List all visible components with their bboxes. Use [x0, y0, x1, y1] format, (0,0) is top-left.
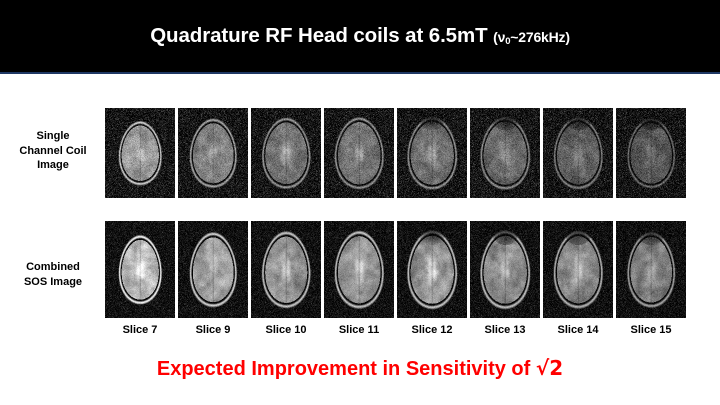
- mri-slice-tile: [543, 108, 613, 198]
- mri-slice-tile: [470, 108, 540, 198]
- mri-slice-image: [397, 108, 467, 198]
- mri-slice-image: [251, 221, 321, 318]
- mri-slice-tile: [470, 221, 540, 318]
- row-label-line: SOS Image: [4, 275, 102, 290]
- slice-caption: Slice 7: [105, 325, 175, 336]
- row-label-single-channel: Single Channel Coil Image: [4, 129, 102, 173]
- mri-slice-tile: [543, 221, 613, 318]
- row-label-line: Combined: [4, 260, 102, 275]
- mri-slice-image: [543, 108, 613, 198]
- mri-slice-image: [397, 221, 467, 318]
- slice-caption: Slice 10: [251, 325, 321, 336]
- sqrt-two-symbol: √2: [536, 356, 563, 380]
- mri-slice-tile: [324, 108, 394, 198]
- mri-slice-tile: [324, 221, 394, 318]
- slide-header-band: Quadrature RF Head coils at 6.5mT (ν0~27…: [0, 0, 720, 74]
- mri-slice-image: [470, 221, 540, 318]
- slice-caption: Slice 15: [616, 325, 686, 336]
- title-frequency-note: (ν0~276kHz): [493, 29, 570, 45]
- mri-slice-image: [178, 108, 248, 198]
- mri-slice-image: [616, 221, 686, 318]
- slice-caption: Slice 13: [470, 325, 540, 336]
- mri-slice-image: [178, 221, 248, 318]
- row-label-combined-sos: Combined SOS Image: [4, 260, 102, 289]
- mri-slice-tile: [251, 108, 321, 198]
- mri-slice-tile: [251, 221, 321, 318]
- row-label-line: Image: [4, 158, 102, 173]
- mri-slice-tile: [105, 221, 175, 318]
- footer-conclusion-text: Expected Improvement in Sensitivity of √…: [0, 357, 720, 380]
- frequency-value: ~276kHz: [510, 29, 565, 45]
- mri-slice-image: [105, 221, 175, 318]
- mri-slice-image: [324, 221, 394, 318]
- mri-slice-tile: [616, 221, 686, 318]
- row-label-line: Channel Coil: [4, 144, 102, 159]
- mri-slice-image: [543, 221, 613, 318]
- mri-slice-tile: [178, 221, 248, 318]
- mri-slice-image: [105, 108, 175, 198]
- footer-prefix: Expected Improvement in Sensitivity of: [157, 358, 536, 380]
- nu-subscript: 0: [505, 36, 510, 47]
- title-main-text: Quadrature RF Head coils at 6.5mT: [150, 24, 487, 47]
- slice-caption: Slice 9: [178, 325, 248, 336]
- slice-caption: Slice 14: [543, 325, 613, 336]
- mri-slice-tile: [616, 108, 686, 198]
- mri-slice-tile: [397, 221, 467, 318]
- mri-slice-tile: [397, 108, 467, 198]
- mri-slice-image: [470, 108, 540, 198]
- slice-caption: Slice 12: [397, 325, 467, 336]
- presentation-slide: Quadrature RF Head coils at 6.5mT (ν0~27…: [0, 0, 720, 405]
- mri-slice-image: [251, 108, 321, 198]
- slice-caption: Slice 11: [324, 325, 394, 336]
- row-label-line: Single: [4, 129, 102, 144]
- page-title: Quadrature RF Head coils at 6.5mT (ν0~27…: [150, 26, 570, 47]
- paren-close: ): [565, 29, 569, 45]
- mri-slice-image: [616, 108, 686, 198]
- mri-slice-image: [324, 108, 394, 198]
- mri-slice-tile: [105, 108, 175, 198]
- mri-slice-tile: [178, 108, 248, 198]
